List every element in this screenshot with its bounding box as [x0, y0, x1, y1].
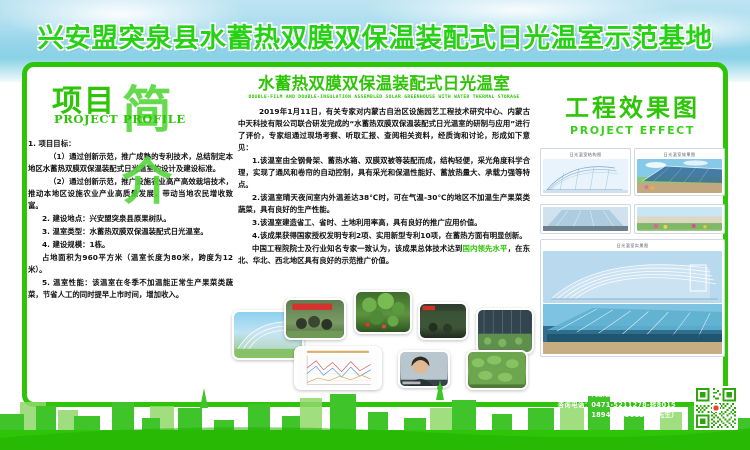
project-effect-heading-en: PROJECT EFFECT	[540, 124, 725, 137]
left-paragraph: 2. 建设地点：兴安盟突泉县原果树队。	[28, 213, 233, 225]
footer-builder: 建设单位：内蒙古中天科技有限公司	[557, 389, 678, 399]
expert-interview-photo	[398, 350, 450, 388]
center-conclusion: 中国工程院院士及行业知名专家一致认为，该成果总体技术达到国内领先水平，在东北、华…	[238, 243, 530, 267]
photo-card: 日光温室实景图	[540, 239, 725, 356]
seedling-row-photo	[466, 350, 528, 390]
greenhouse-structure-large-image	[543, 251, 722, 303]
photo-card: 日光温室效果图	[634, 148, 725, 196]
project-profile-heading: 项目 简介 PROJECT PROFILE	[28, 72, 233, 134]
center-panel-title: 水蓄热双膜双保温装配式日光温室	[238, 70, 530, 94]
greenhouse-landscape-image	[637, 207, 722, 231]
project-effect-heading-cn: 工程效果图	[540, 88, 725, 123]
greenhouse-structure-image	[543, 159, 628, 193]
right-panel: 工程效果图 PROJECT EFFECT 日光温室结构图	[540, 88, 725, 357]
photo-caption: 日光温室实景图	[543, 242, 722, 250]
page-title: 兴安盟突泉县水蓄热双膜双保温装配式日光温室示范基地	[0, 16, 750, 55]
inspection-meeting-photo	[284, 298, 346, 340]
photo-collage	[232, 288, 532, 393]
project-profile-heading-cn-accent: 简介	[122, 70, 174, 214]
temperature-chart-photo	[294, 346, 382, 390]
photo-caption: 日光温室效果图	[637, 151, 722, 159]
greenhouse-interior-image	[543, 207, 628, 231]
center-paragraph: 3.该温室建造省工、省时、土地利用率高，具有良好的推广应用价值。	[238, 217, 530, 229]
center-panel-body: 2019年1月11日，有关专家对内蒙古自治区设施园艺工程技术研究中心、内蒙古中天…	[238, 106, 530, 267]
left-paragraph: 4. 建设规模：1栋。	[28, 239, 233, 251]
center-conclusion-prefix: 中国工程院院士及行业知名专家一致认为，该成果总体技术达到	[252, 244, 462, 253]
footer-phone: 咨询电话：0471-5211278-转8015	[557, 400, 678, 410]
center-paragraph: 1.该温室由全钢骨架、蓄热水箱、双膜双被等装配而成，结构轻便，采光角度科学合理，…	[238, 155, 530, 191]
center-conclusion-highlight: 国内领先水平	[462, 244, 507, 253]
project-profile-heading-en: PROJECT PROFILE	[54, 112, 186, 126]
photo-card	[540, 204, 631, 234]
footer-phone-mobile: 18947123618（徐先生）	[557, 410, 678, 420]
interior-tour-photo	[418, 302, 468, 340]
center-paragraph: 2019年1月11日，有关专家对内蒙古自治区设施园艺工程技术研究中心、内蒙古中天…	[238, 106, 530, 154]
photo-card: 日光温室结构图	[540, 148, 631, 196]
vegetable-crop-photo	[354, 290, 412, 334]
left-paragraph: 占地面积为960平方米（温室长度为80米，跨度为12米）。	[28, 252, 233, 276]
poster-canvas: 兴安盟突泉县水蓄热双膜双保温装配式日光温室示范基地 项目 简介 PROJECT …	[0, 0, 750, 450]
center-paragraph: 4.该成果获得国家授权发明专利2项、实用新型专利10项，在蓄热方面有明显创新。	[238, 230, 530, 242]
footer-contact-block: 建设单位：内蒙古中天科技有限公司 咨询电话：0471-5211278-转8015…	[557, 389, 678, 420]
center-paragraph: 2.该温室晴天夜间室内外温差达38℃时，可在气温-30℃的地区不加温生产果菜类蔬…	[238, 192, 530, 216]
center-panel: 水蓄热双膜双保温装配式日光温室 DOUBLE-FILM AND DOUBLE-I…	[238, 70, 530, 268]
greenhouse-exterior-large-image	[543, 304, 722, 354]
footer: 建设单位：内蒙古中天科技有限公司 咨询电话：0471-5211278-转8015…	[0, 394, 750, 450]
left-paragraph: 3. 温室类型：水蓄热双膜双保温装配式日光温室。	[28, 226, 233, 238]
center-panel-subtitle-en: DOUBLE-FILM AND DOUBLE-INSULATION ASSEMB…	[238, 95, 530, 100]
photo-card	[634, 204, 725, 234]
greenhouse-render-image	[637, 159, 722, 193]
greenhouse-exterior-photo	[476, 308, 534, 354]
qr-code[interactable]	[694, 386, 738, 430]
left-panel: 项目 简介 PROJECT PROFILE 1. 项目目标： （1）通过创新示范…	[28, 72, 233, 352]
photo-caption: 日光温室结构图	[543, 151, 628, 159]
left-paragraph: 5. 温室性能：该温室在冬季不加温能正常生产果菜类蔬菜，节省人工的同时提早上市时…	[28, 277, 233, 301]
